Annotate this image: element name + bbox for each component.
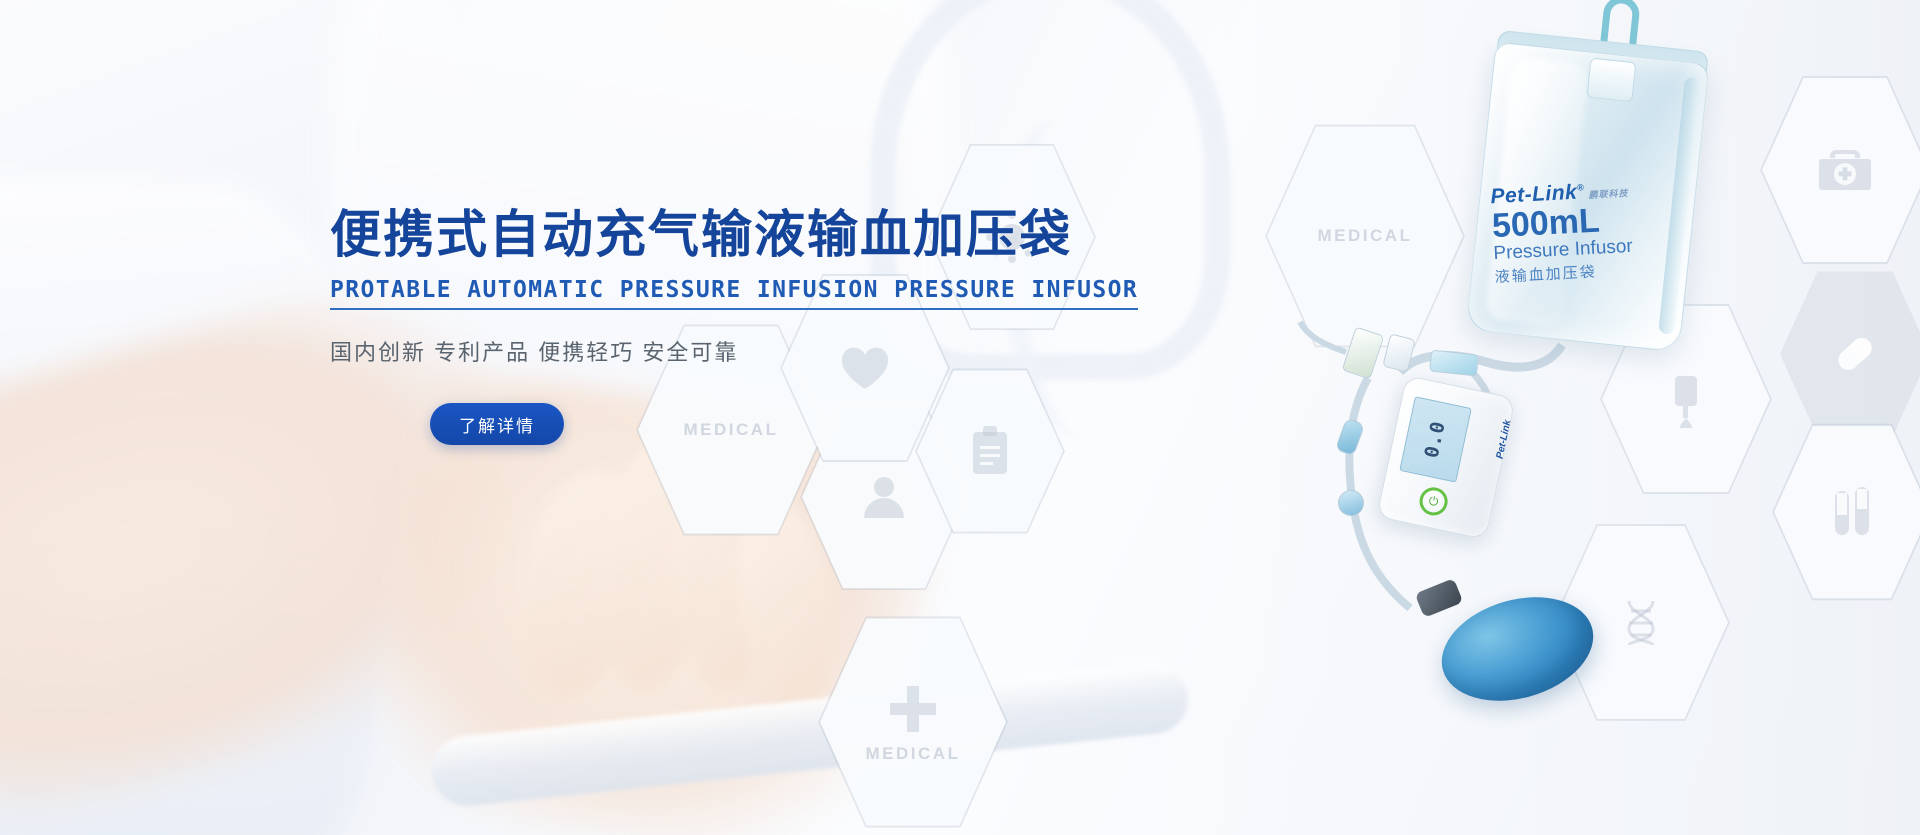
hero-copy: 便携式自动充气输液输血加压袋 PROTABLE AUTOMATIC PRESSU… [330, 205, 990, 445]
hero-banner: MEDICAL [0, 0, 1920, 835]
learn-more-button[interactable]: 了解详情 [430, 403, 564, 445]
bag-brand-cn: 鹏联科技 [1588, 188, 1628, 200]
bag-fill-port [1586, 58, 1636, 103]
lcd-screen: 0.0 [1399, 396, 1472, 482]
finger [724, 494, 848, 716]
product-photo: Pet-Link®鹏联科技 500mL Pressure Infusor 液输血… [1100, 0, 1920, 835]
feature-tagline: 国内创新 专利产品 便携轻巧 安全可靠 [330, 335, 990, 367]
finger [497, 460, 662, 710]
lcd-reading: 0.0 [1421, 419, 1450, 460]
finger [587, 435, 723, 695]
finger [668, 453, 776, 691]
power-button[interactable]: ⏻ [1417, 485, 1450, 518]
medical-cross-icon [884, 680, 942, 738]
nurse-coat-sleeve [0, 180, 380, 835]
infusion-tube [428, 660, 1191, 809]
subtitle-english: PROTABLE AUTOMATIC PRESSURE INFUSION PRE… [330, 277, 1138, 310]
bag-label: Pet-Link®鹏联科技 500mL Pressure Infusor 液输血… [1490, 175, 1685, 286]
person-icon [857, 470, 911, 524]
iv-pressure-bag: Pet-Link®鹏联科技 500mL Pressure Infusor 液输血… [1465, 42, 1709, 353]
hexagon-medical-cross: MEDICAL [818, 612, 1008, 832]
subhead-wrapper: PROTABLE AUTOMATIC PRESSURE INFUSION PRE… [330, 277, 1138, 310]
page-title: 便携式自动充气输液输血加压袋 [330, 205, 990, 265]
hexagon-label: MEDICAL [866, 744, 961, 764]
trademark-symbol: ® [1577, 182, 1585, 192]
